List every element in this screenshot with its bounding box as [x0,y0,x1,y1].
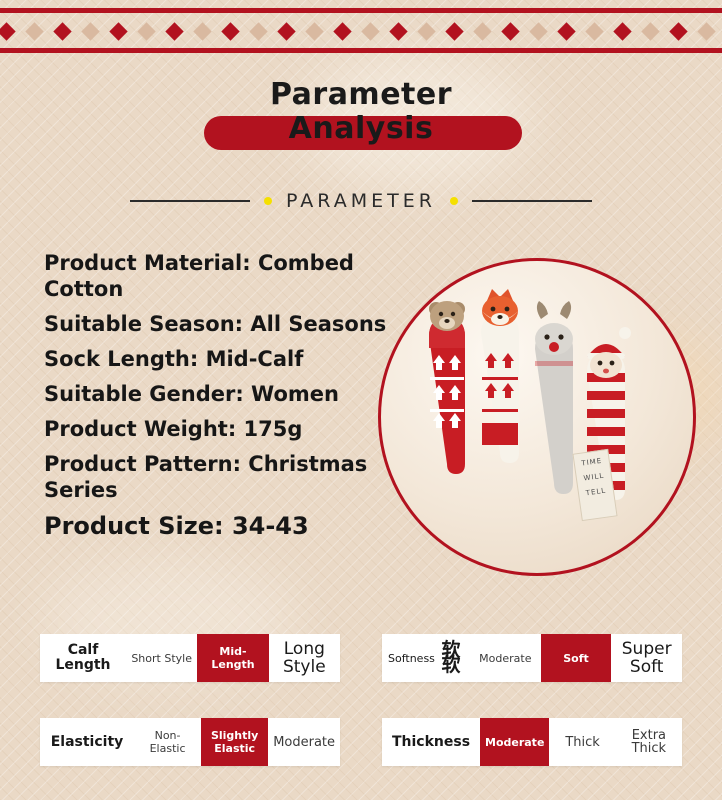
socks-illustration [381,261,693,573]
spec-item: Product Size: 34-43 [44,512,404,540]
scale-option-selected[interactable]: Soft [541,634,612,682]
scale-option[interactable]: Short Style [126,634,197,682]
spec-item: Product Material: Combed Cotton [44,250,404,302]
diamond-icon [81,22,99,40]
diamond-icon [193,22,211,40]
subtitle-text: PARAMETER [286,190,436,212]
title-line-2: Analysis [0,112,722,146]
band-line-bottom [0,48,722,53]
diamond-icon [221,22,239,40]
scale-option-selected[interactable]: Moderate [480,718,549,766]
diamond-icon [137,22,155,40]
spec-list: Product Material: Combed Cotton Suitable… [44,250,404,549]
tag-line-3: TELL [579,486,614,500]
subtitle-row: PARAMETER [0,186,722,216]
band-line-top [0,8,722,13]
diamond-icon [641,22,659,40]
tag-line-1: TIME [574,456,609,470]
diamond-icon [109,22,127,40]
spec-item: Product Weight: 175g [44,416,404,442]
spec-item: Product Pattern: Christmas Series [44,451,404,503]
diamond-icon [557,22,575,40]
scale-label: Softness 软软 [382,634,470,682]
scale-option-selected[interactable]: Mid-Length [197,634,268,682]
scale-calf-length: Calf Length Short Style Mid-Length Long … [40,634,340,682]
diamond-icon [697,22,715,40]
page-title: Parameter Analysis [0,78,722,146]
diamond-icon [585,22,603,40]
scale-option[interactable]: Long Style [269,634,340,682]
scale-elasticity: Elasticity Non-Elastic Slightly Elastic … [40,718,340,766]
scale-option-selected[interactable]: Slightly Elastic [201,718,268,766]
dot-right-icon [450,197,458,205]
spec-item: Suitable Season: All Seasons [44,311,404,337]
scale-option[interactable]: Extra Thick [616,718,682,766]
diamond-icon [501,22,519,40]
scale-option[interactable]: Super Soft [611,634,682,682]
product-photo: TIME WILL TELL [378,258,696,576]
diamond-icon [333,22,351,40]
scale-thickness: Thickness Moderate Thick Extra Thick [382,718,682,766]
diamond-icon [389,22,407,40]
scale-option[interactable]: Moderate [470,634,541,682]
diamond-icon [417,22,435,40]
rule-right [472,200,592,202]
scale-label-cn: 软软 [438,643,464,673]
title-line-1: Parameter [0,78,722,112]
diamond-icon [53,22,71,40]
spec-item: Sock Length: Mid-Calf [44,346,404,372]
diamond-icon [0,22,16,40]
scale-label: Calf Length [40,634,126,682]
scale-option[interactable]: Moderate [268,718,340,766]
diamond-icon [249,22,267,40]
diamond-icon [445,22,463,40]
scale-label: Elasticity [40,718,134,766]
diamond-icon [361,22,379,40]
diamond-icon [529,22,547,40]
scale-softness: Softness 软软 Moderate Soft Super Soft [382,634,682,682]
top-border-band [0,0,722,58]
diamond-icon [25,22,43,40]
scale-option[interactable]: Non-Elastic [134,718,201,766]
scale-option[interactable]: Thick [549,718,615,766]
rule-left [130,200,250,202]
scale-label: Thickness [382,718,480,766]
diamond-icon [165,22,183,40]
diamond-icon [473,22,491,40]
scale-label-en: Softness [388,651,435,666]
diamond-icon [277,22,295,40]
spec-item: Suitable Gender: Women [44,381,404,407]
tag-line-2: WILL [576,471,611,485]
diamond-icon [613,22,631,40]
title-block: Parameter Analysis [0,78,722,168]
dot-left-icon [264,197,272,205]
diamond-pattern-row [0,20,722,42]
diamond-icon [669,22,687,40]
diamond-icon [305,22,323,40]
